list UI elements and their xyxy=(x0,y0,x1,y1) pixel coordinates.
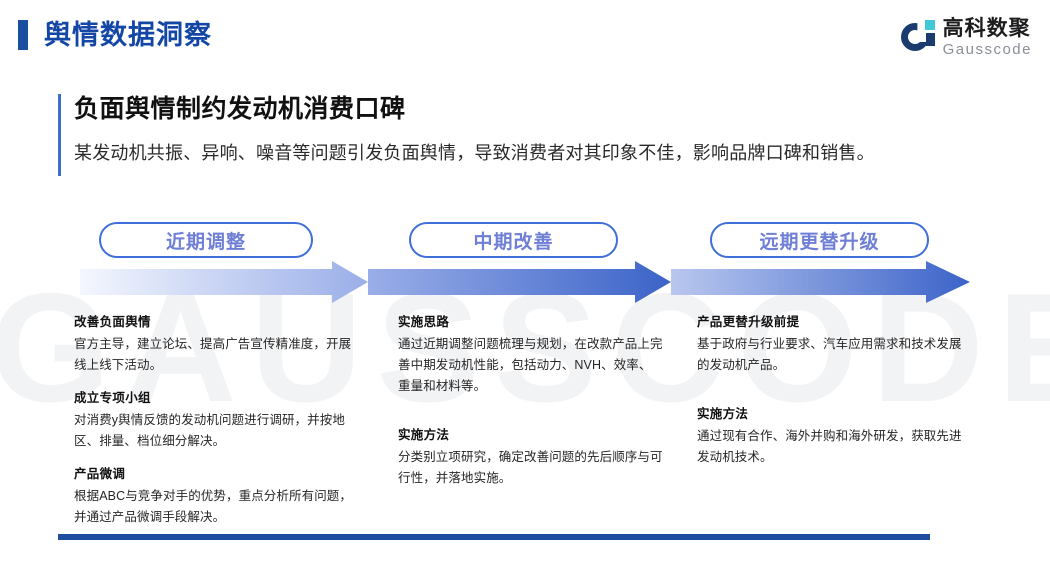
block-body: 根据ABC与竞争对手的优势，重点分析所有问题，并通过产品微调手段解决。 xyxy=(74,486,359,528)
block-heading: 实施思路 xyxy=(398,312,663,332)
block-body: 通过现有合作、海外并购和海外研发，获取先进发动机技术。 xyxy=(697,426,967,468)
block-body: 通过近期调整问题梳理与规划，在改款产品上完善中期发动机性能，包括动力、NVH、效… xyxy=(398,334,663,397)
phase-pill-near-term[interactable]: 近期调整 xyxy=(99,222,313,258)
block-heading: 成立专项小组 xyxy=(74,388,359,408)
block-heading: 产品更替升级前提 xyxy=(697,312,967,332)
logo-wordmark: 高科数聚 Gausscode xyxy=(943,18,1032,57)
title-left-rule xyxy=(58,94,61,176)
block-body: 基于政府与行业要求、汽车应用需求和技术发展的发动机产品。 xyxy=(697,334,967,376)
timeline-arrow-svg xyxy=(80,261,970,303)
header-title: 舆情数据洞察 xyxy=(44,18,212,52)
block-heading: 实施方法 xyxy=(697,404,967,424)
header-accent-bar xyxy=(18,20,28,50)
logo-cyan-square xyxy=(925,20,935,30)
content-column-long-term: 产品更替升级前提 基于政府与行业要求、汽车应用需求和技术发展的发动机产品。 实施… xyxy=(697,312,967,468)
logo-name-cn: 高科数聚 xyxy=(943,18,1032,39)
logo-mark-icon xyxy=(901,20,935,54)
block-heading: 改善负面舆情 xyxy=(74,312,359,332)
logo-navy-square xyxy=(926,33,935,46)
block-body: 对消费y舆情反馈的发动机问题进行调研，并按地区、排量、档位细分解决。 xyxy=(74,410,359,452)
brand-logo: 高科数聚 Gausscode xyxy=(901,14,1032,60)
slide-header: 舆情数据洞察 高科数聚 Gausscode xyxy=(0,0,1050,72)
slide-stage: 舆情数据洞察 高科数聚 Gausscode 负面舆情制约发动机消费口碑 某发动机… xyxy=(0,0,1050,588)
block-heading: 实施方法 xyxy=(398,425,663,445)
footer-bar xyxy=(58,534,930,540)
content-column-near-term: 改善负面舆情 官方主导，建立论坛、提高广告宣传精准度，开展线上线下活动。 成立专… xyxy=(74,312,359,528)
timeline-arrow-bar xyxy=(80,261,970,303)
page-subtitle: 某发动机共振、异响、噪音等问题引发负面舆情，导致消费者对其印象不佳，影响品牌口碑… xyxy=(74,139,988,167)
page-title: 负面舆情制约发动机消费口碑 xyxy=(74,92,988,126)
title-block: 负面舆情制约发动机消费口碑 某发动机共振、异响、噪音等问题引发负面舆情，导致消费… xyxy=(58,92,988,167)
block-body: 分类别立项研究，确定改善问题的先后顺序与可行性，并落地实施。 xyxy=(398,447,663,489)
phase-pill-long-term[interactable]: 远期更替升级 xyxy=(710,222,929,258)
block-body: 官方主导，建立论坛、提高广告宣传精准度，开展线上线下活动。 xyxy=(74,334,359,376)
column-spacer xyxy=(398,409,663,425)
column-spacer xyxy=(697,388,967,404)
content-column-mid-term: 实施思路 通过近期调整问题梳理与规划，在改款产品上完善中期发动机性能，包括动力、… xyxy=(398,312,663,489)
logo-name-en: Gausscode xyxy=(943,42,1032,57)
block-heading: 产品微调 xyxy=(74,464,359,484)
phase-pill-mid-term[interactable]: 中期改善 xyxy=(409,222,618,258)
